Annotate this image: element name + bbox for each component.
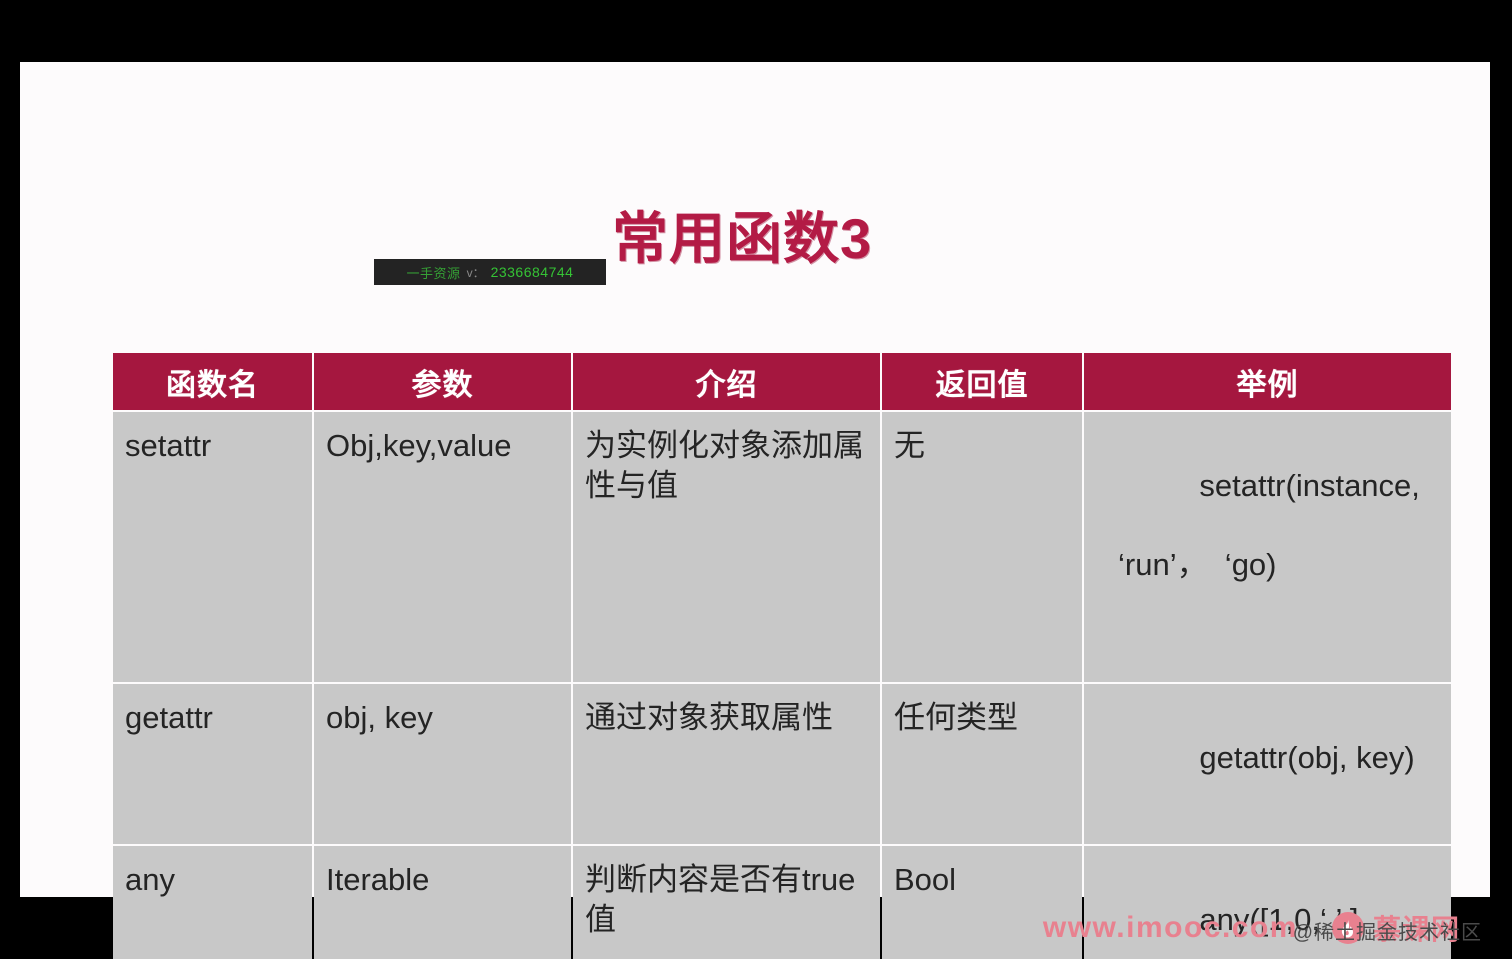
column-header-parameters: 参数 — [314, 353, 571, 410]
example-line-1: setattr(instance, — [1199, 468, 1420, 503]
table-row: getattr obj, key 通过对象获取属性 任何类型 getattr(o… — [113, 684, 1451, 844]
cell-function-name: setattr — [113, 412, 312, 682]
cell-example: setattr(instance, ‘run’， ‘go) — [1084, 412, 1451, 682]
functions-table: 函数名 参数 介绍 返回值 举例 setattr Obj,key,value 为… — [111, 351, 1453, 959]
slide-footer: www.imooc.com 慕课网 — [20, 908, 1490, 948]
watermark-label-prefix: v： — [467, 264, 485, 281]
page-title: 常用函数3 — [612, 194, 1012, 275]
bottom-watermark: @稀土掘金技术社区 — [1293, 916, 1482, 945]
table-row: setattr Obj,key,value 为实例化对象添加属性与值 无 set… — [113, 412, 1451, 682]
cell-description: 通过对象获取属性 — [573, 684, 880, 844]
cell-function-name: getattr — [113, 684, 312, 844]
slide-surface: 常用函数3 一手资源 v： 2336684744 函数名 参数 介绍 返回值 举… — [20, 62, 1490, 897]
promo-watermark-banner: 一手资源 v： 2336684744 — [374, 259, 606, 285]
cell-description: 为实例化对象添加属性与值 — [573, 412, 880, 682]
table-header-row: 函数名 参数 介绍 返回值 举例 — [113, 353, 1451, 410]
example-line-2: ‘run’， ‘go) — [1096, 545, 1439, 585]
cell-parameters: obj, key — [314, 684, 571, 844]
column-header-return-value: 返回值 — [882, 353, 1082, 410]
column-header-description: 介绍 — [573, 353, 880, 410]
watermark-label-cn: 一手资源 — [407, 263, 461, 282]
watermark-number: 2336684744 — [491, 264, 574, 280]
cell-return-value: 无 — [882, 412, 1082, 682]
cell-parameters: Obj,key,value — [314, 412, 571, 682]
column-header-function-name: 函数名 — [113, 353, 312, 410]
example-line-1: getattr(obj, key) — [1199, 740, 1414, 775]
column-header-example: 举例 — [1084, 353, 1451, 410]
imooc-url: www.imooc.com — [1043, 911, 1298, 945]
screenshot-root: 常用函数3 一手资源 v： 2336684744 函数名 参数 介绍 返回值 举… — [0, 0, 1512, 959]
cell-return-value: 任何类型 — [882, 684, 1082, 844]
cell-example: getattr(obj, key) — [1084, 684, 1451, 844]
